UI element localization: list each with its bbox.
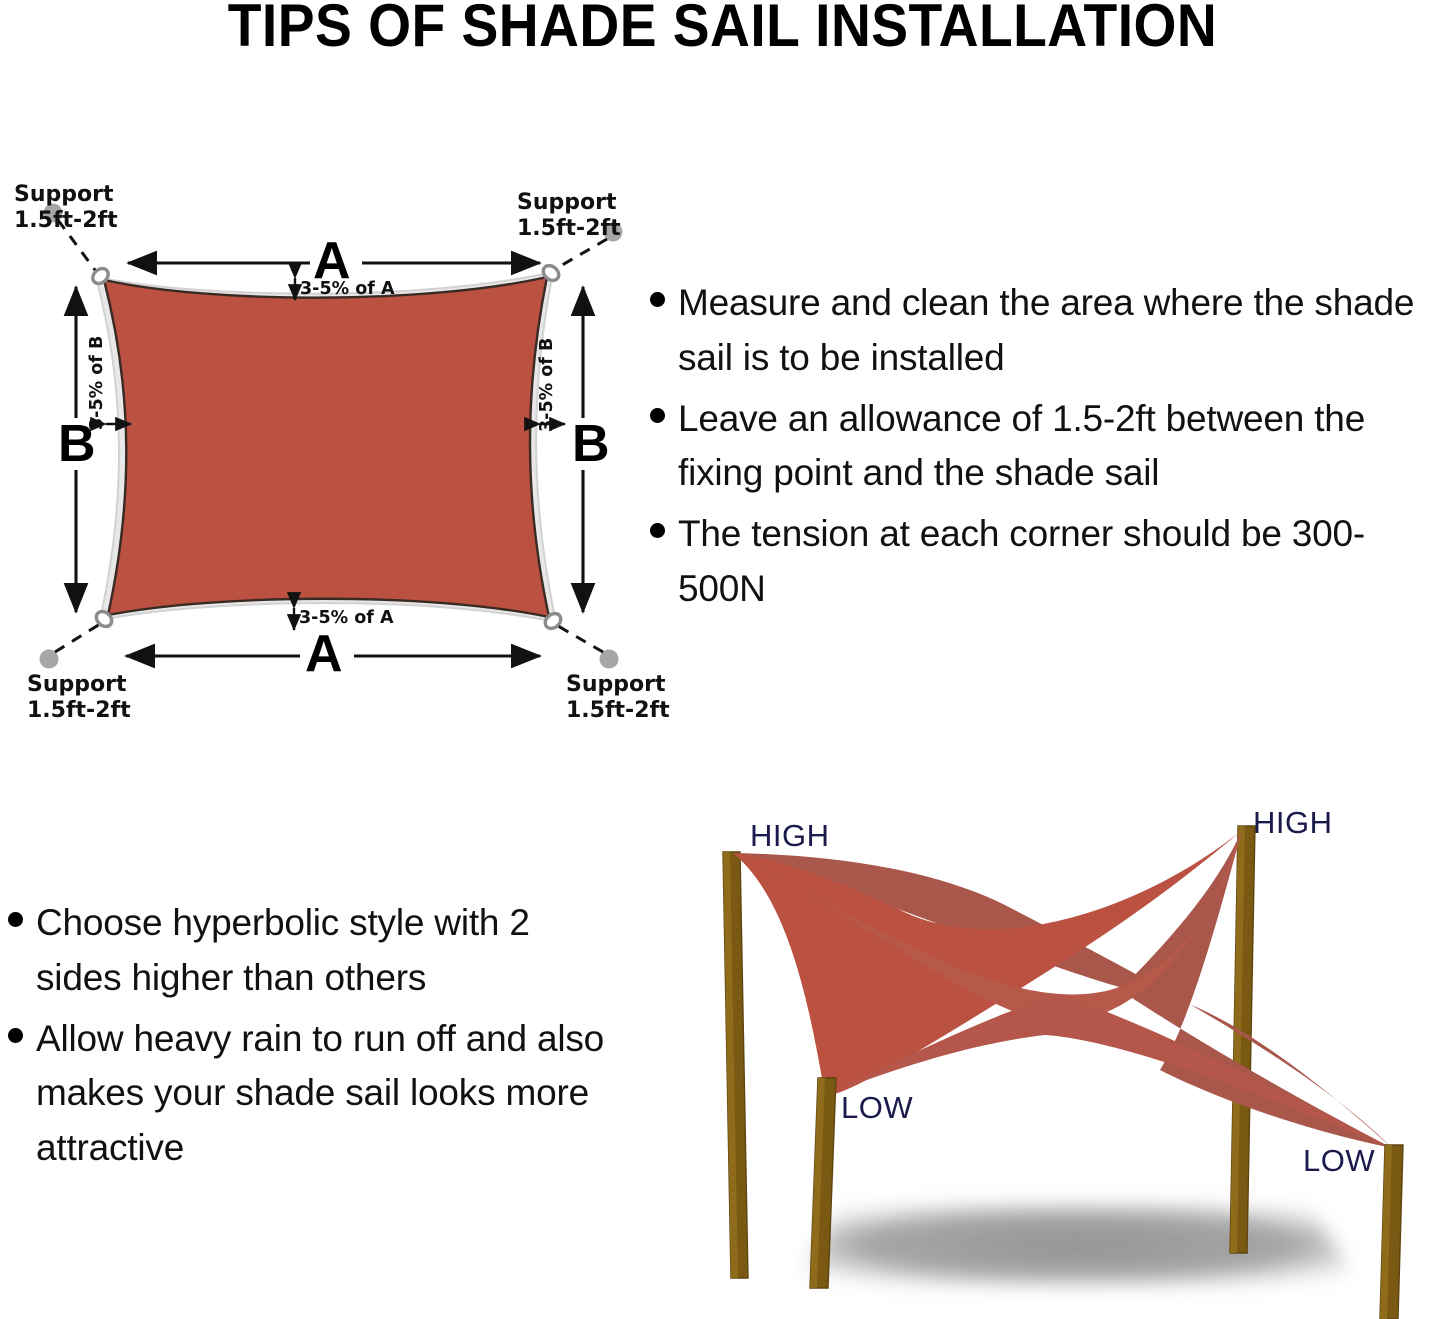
sail-panel-back-a xyxy=(733,853,1392,1148)
list-item: Allow heavy rain to run off and also mak… xyxy=(8,1012,628,1176)
curvature-label-right: 3-5% of B xyxy=(537,338,557,432)
list-item-label: Allow heavy rain to run off and also mak… xyxy=(36,1012,606,1176)
label-low-right: LOW xyxy=(1303,1143,1375,1179)
post-front-right xyxy=(1380,1145,1403,1319)
support-label-top-right: Support 1.5ft-2ft xyxy=(517,190,621,242)
infographic-poster: TIPS OF SHADE SAIL INSTALLATION xyxy=(0,0,1445,1319)
list-item: Choose hyperbolic style with 2 sides hig… xyxy=(8,896,628,1006)
list-item: Measure and clean the area where the sha… xyxy=(650,276,1445,386)
curvature-label-left: 3-5% of B xyxy=(87,336,107,430)
page-title: TIPS OF SHADE SAIL INSTALLATION xyxy=(58,0,1387,57)
dimension-letter-b-right: B xyxy=(572,418,610,470)
dimension-letter-a-bottom: A xyxy=(305,628,343,680)
curvature-label-bottom: 3-5% of A xyxy=(299,608,394,628)
bullet-dot-icon xyxy=(650,408,665,423)
list-item-label: Measure and clean the area where the sha… xyxy=(678,276,1445,386)
label-high-right: HIGH xyxy=(1253,805,1333,841)
list-item: Leave an allowance of 1.5-2ft between th… xyxy=(650,392,1445,502)
sail-panel-front-right xyxy=(1120,830,1392,1148)
list-item: The tension at each corner should be 300… xyxy=(650,507,1445,617)
support-label-bottom-left: Support 1.5ft-2ft xyxy=(27,672,131,724)
post-back-left xyxy=(723,852,748,1278)
bullet-dot-icon xyxy=(650,523,665,538)
bullet-dot-icon xyxy=(650,292,665,307)
sail-sweep-upper xyxy=(733,830,1242,1022)
ground-shadow xyxy=(795,1205,1360,1285)
curvature-label-top: 3-5% of A xyxy=(300,279,395,299)
post-front-left xyxy=(810,1078,836,1288)
hyperbolic-sail-scene xyxy=(723,826,1403,1319)
support-label-bottom-right: Support 1.5ft-2ft xyxy=(566,672,670,724)
installation-tips-list: Measure and clean the area where the sha… xyxy=(650,276,1445,623)
list-item-label: Choose hyperbolic style with 2 sides hig… xyxy=(36,896,606,1006)
bullet-dot-icon xyxy=(8,912,23,927)
post-back-right xyxy=(1230,826,1255,1253)
label-low-left: LOW xyxy=(841,1090,913,1126)
label-high-left: HIGH xyxy=(750,818,830,854)
hyperbolic-style-tips-list: Choose hyperbolic style with 2 sides hig… xyxy=(8,896,628,1182)
rect-sail-shape xyxy=(96,272,556,622)
sail-panel-front-left xyxy=(733,830,1242,1095)
curvature-indicator-arrows xyxy=(106,278,565,630)
list-item-label: The tension at each corner should be 300… xyxy=(678,507,1445,617)
bullet-dot-icon xyxy=(8,1028,23,1043)
list-item-label: Leave an allowance of 1.5-2ft between th… xyxy=(678,392,1445,502)
support-label-top-left: Support 1.5ft-2ft xyxy=(14,182,118,234)
corner-grommets xyxy=(90,263,564,632)
